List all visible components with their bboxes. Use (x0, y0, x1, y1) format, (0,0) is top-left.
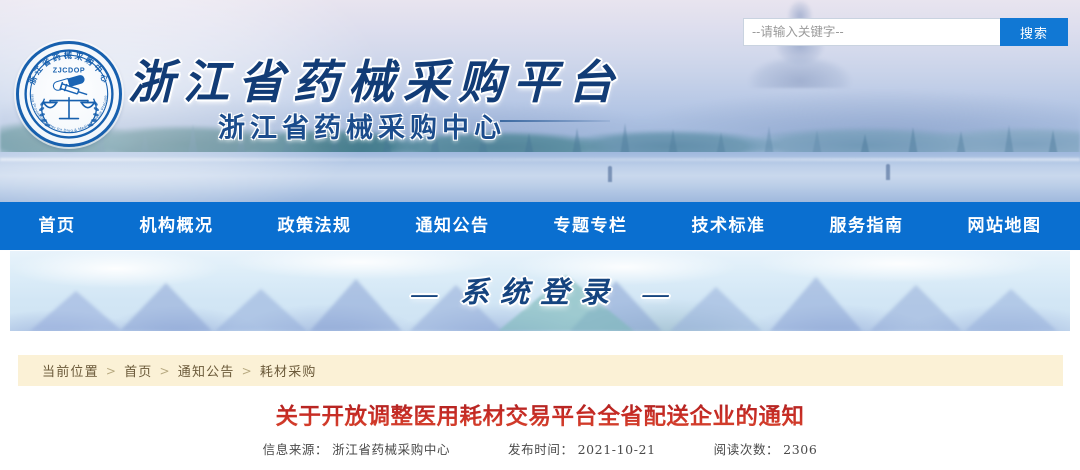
meta-date-value: 2021-10-21 (578, 442, 656, 457)
nav-item-announcements[interactable]: 通知公告 (384, 202, 522, 250)
nav-item-guide[interactable]: 服务指南 (798, 202, 936, 250)
meta-source-label: 信息来源： (263, 442, 329, 457)
banner-title-row: — 系统登录 — (10, 269, 1070, 311)
nav-item-standards[interactable]: 技术标准 (660, 202, 798, 250)
nav-item-about[interactable]: 机构概况 (108, 202, 246, 250)
meta-views-label: 阅读次数： (714, 442, 780, 457)
breadcrumb-separator: > (242, 364, 253, 378)
banner-dash-right: — (641, 277, 670, 311)
banner-title: 系统登录 (460, 275, 620, 309)
content-area: 当前位置 > 首页 > 通知公告 > 耗材采购 关于开放调整医用耗材交易平台全省… (0, 331, 1080, 470)
meta-views-value: 2306 (783, 442, 817, 457)
nav-item-sitemap[interactable]: 网站地图 (936, 202, 1074, 250)
meta-source: 信息来源：浙江省药械采购中心 (263, 439, 450, 458)
system-login-banner[interactable]: — 系统登录 — (10, 251, 1070, 331)
boat-silhouette (886, 164, 890, 180)
search-box: 搜索 (743, 18, 1068, 46)
meta-date: 发布时间：2021-10-21 (508, 439, 656, 458)
article-meta: 信息来源：浙江省药械采购中心 发布时间：2021-10-21 阅读次数：2306 (0, 439, 1080, 458)
meta-date-label: 发布时间： (508, 442, 574, 457)
logo-seal-icon: 浙江省药械采购中心 Zhejiang Provincial Center for… (19, 44, 119, 144)
nav-item-home[interactable]: 首页 (7, 202, 108, 250)
site-subtitle: 浙江省药械采购中心 (218, 106, 506, 145)
breadcrumb-separator: > (106, 364, 117, 378)
page-root: 浙江省药械采购中心 Zhejiang Provincial Center for… (0, 0, 1080, 470)
site-title: 浙江省药械采购平台 (128, 46, 623, 112)
subtitle-rule (500, 120, 610, 122)
nav-item-special[interactable]: 专题专栏 (522, 202, 660, 250)
breadcrumb-item-home[interactable]: 首页 (124, 361, 152, 380)
banner-dash-left: — (410, 277, 439, 311)
breadcrumb-separator: > (159, 364, 170, 378)
search-input[interactable] (743, 18, 1000, 46)
breadcrumb: 当前位置 > 首页 > 通知公告 > 耗材采购 (18, 355, 1063, 386)
boat-silhouette (608, 166, 612, 182)
main-navigation: 首页 机构概况 政策法规 通知公告 专题专栏 技术标准 服务指南 网站地图 (0, 202, 1080, 250)
site-logo[interactable]: 浙江省药械采购中心 Zhejiang Provincial Center for… (16, 41, 122, 147)
breadcrumb-label: 当前位置 (42, 361, 99, 380)
article-title: 关于开放调整医用耗材交易平台全省配送企业的通知 (0, 399, 1080, 431)
nav-item-policies[interactable]: 政策法规 (246, 202, 384, 250)
search-button[interactable]: 搜索 (1000, 18, 1068, 46)
meta-views: 阅读次数：2306 (714, 439, 818, 458)
breadcrumb-item-announcements[interactable]: 通知公告 (178, 361, 235, 380)
meta-source-value: 浙江省药械采购中心 (332, 442, 450, 457)
site-header: 浙江省药械采购中心 Zhejiang Provincial Center for… (0, 0, 1080, 202)
svg-text:ZJCDOP: ZJCDOP (53, 66, 85, 74)
breadcrumb-item-consumables[interactable]: 耗材采购 (260, 361, 317, 380)
